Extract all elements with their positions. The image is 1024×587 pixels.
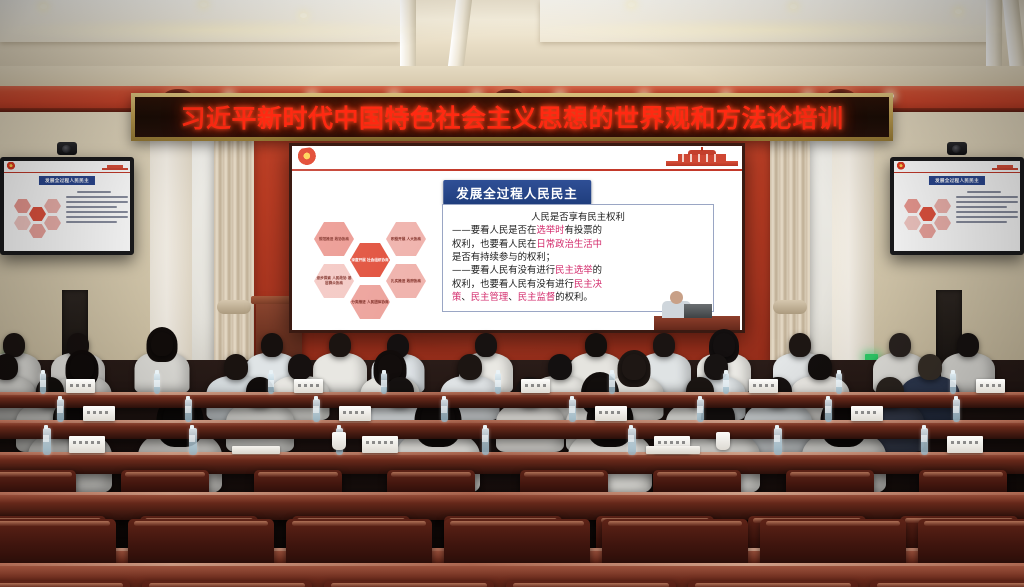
audience-person xyxy=(226,372,294,452)
chair-foreground xyxy=(688,581,858,587)
monitor-left-text xyxy=(66,191,128,226)
name-card xyxy=(851,406,883,421)
conference-hall-screenshot: 习近平新时代中国特色社会主义思想的世界观和方法论培训 发展全过程人民民主 稳妥推… xyxy=(0,0,1024,587)
water-bottle xyxy=(313,399,320,422)
wall-monitor-left: 发展全过程人民民主 xyxy=(0,157,134,255)
water-bottle xyxy=(628,428,636,454)
name-card xyxy=(66,379,95,393)
person-head xyxy=(957,333,979,357)
hex-cell: 规范推进 政协协商 xyxy=(314,222,354,256)
led-banner: 习近平新时代中国特色社会主义思想的世界观和方法论培训 xyxy=(131,93,893,141)
water-bottle xyxy=(609,373,615,394)
party-emblem-icon xyxy=(295,147,317,168)
water-bottle xyxy=(774,428,782,454)
textbox-line: 是否有持续参与的权利； xyxy=(452,251,704,264)
name-card xyxy=(976,379,1005,393)
textbox-line: ——要看人民是否在选举时有投票的 xyxy=(452,224,704,237)
ceiling xyxy=(0,0,1024,70)
name-card xyxy=(947,436,983,454)
paper-sheet xyxy=(646,446,700,454)
textbox-heading: 人民是否享有民主权利 xyxy=(452,211,704,224)
wall-monitor-right: 发展全过程人民民主 xyxy=(890,157,1024,255)
person-head xyxy=(458,354,482,380)
slide-header xyxy=(292,146,742,171)
name-card xyxy=(521,379,550,393)
laptop-icon xyxy=(684,304,712,318)
water-bottle xyxy=(921,428,929,454)
monitor-right-hex xyxy=(902,193,950,237)
water-bottle xyxy=(723,373,729,394)
water-bottle xyxy=(57,399,64,422)
water-bottle xyxy=(441,399,448,422)
textbox-line: ——要看人民有没有进行民主选举的 xyxy=(452,264,704,277)
person-head xyxy=(329,333,351,357)
name-card xyxy=(749,379,778,393)
water-bottle xyxy=(268,373,274,394)
chair-foreground xyxy=(870,581,1024,587)
water-bottle xyxy=(697,399,704,422)
water-bottle xyxy=(953,399,960,422)
chair-foreground xyxy=(324,581,494,587)
drink-cup xyxy=(332,432,346,450)
water-bottle xyxy=(185,399,192,422)
monitor-right-text xyxy=(956,191,1018,226)
projection-screen: 发展全过程人民民主 稳妥推进 政党协商积极开展 人大协商扎实推进 政府协商分类推… xyxy=(292,146,742,330)
monitor-right-title: 发展全过程人民民主 xyxy=(929,176,985,185)
water-bottle xyxy=(950,373,956,394)
great-hall-of-the-people-icon xyxy=(666,149,738,166)
monitor-left-hex xyxy=(12,193,60,237)
curtain-tieback-right xyxy=(773,300,807,314)
slide-title: 发展全过程人民民主 xyxy=(443,180,591,205)
camera-icon-left xyxy=(57,142,77,155)
hex-cell: 积极开展 人大协商 xyxy=(386,222,426,256)
name-card xyxy=(339,406,371,421)
water-bottle xyxy=(154,373,160,394)
curtain-tieback-left xyxy=(217,300,251,314)
hex-diagram: 稳妥推进 政党协商积极开展 人大协商扎实推进 政府协商分类推进 人民团体协商逐步… xyxy=(310,209,430,313)
water-bottle xyxy=(482,428,490,454)
presenter xyxy=(654,286,740,330)
name-card xyxy=(362,436,398,454)
water-bottle xyxy=(189,428,197,454)
drink-cup xyxy=(716,432,730,450)
water-bottle xyxy=(836,373,842,394)
audience-person xyxy=(135,328,190,393)
name-card xyxy=(595,406,627,421)
slide-body: 发展全过程人民民主 稳妥推进 政党协商积极开展 人大协商扎实推进 政府协商分类推… xyxy=(292,171,742,330)
name-card xyxy=(69,436,105,454)
hex-cell: 分类推进 人民团体协商 xyxy=(350,285,390,319)
desk-row xyxy=(0,420,1024,439)
monitor-left-title: 发展全过程人民民主 xyxy=(39,176,95,185)
paper-sheet xyxy=(232,446,280,454)
water-bottle xyxy=(569,399,576,422)
textbox-line: 权利，也要看人民在日常政治生活中 xyxy=(452,238,704,251)
chair-foreground xyxy=(506,581,676,587)
chair-foreground xyxy=(142,581,312,587)
ceiling-soffit xyxy=(0,66,1024,88)
water-bottle xyxy=(495,373,501,394)
name-card xyxy=(294,379,323,393)
hex-cell: 逐步探索 人民政协 基层群众协商 xyxy=(314,264,354,298)
hex-cell-center: 深度开展 社会组织协商 xyxy=(350,243,390,277)
camera-icon-right xyxy=(947,142,967,155)
water-bottle xyxy=(381,373,387,394)
water-bottle xyxy=(40,373,46,394)
led-banner-text: 习近平新时代中国特色社会主义思想的世界观和方法论培训 xyxy=(180,99,843,135)
name-card xyxy=(83,406,115,421)
water-bottle xyxy=(43,428,51,454)
water-bottle xyxy=(825,399,832,422)
person-head xyxy=(151,332,173,356)
hex-cell: 扎实推进 政府协商 xyxy=(386,264,426,298)
chair-foreground xyxy=(0,581,130,587)
